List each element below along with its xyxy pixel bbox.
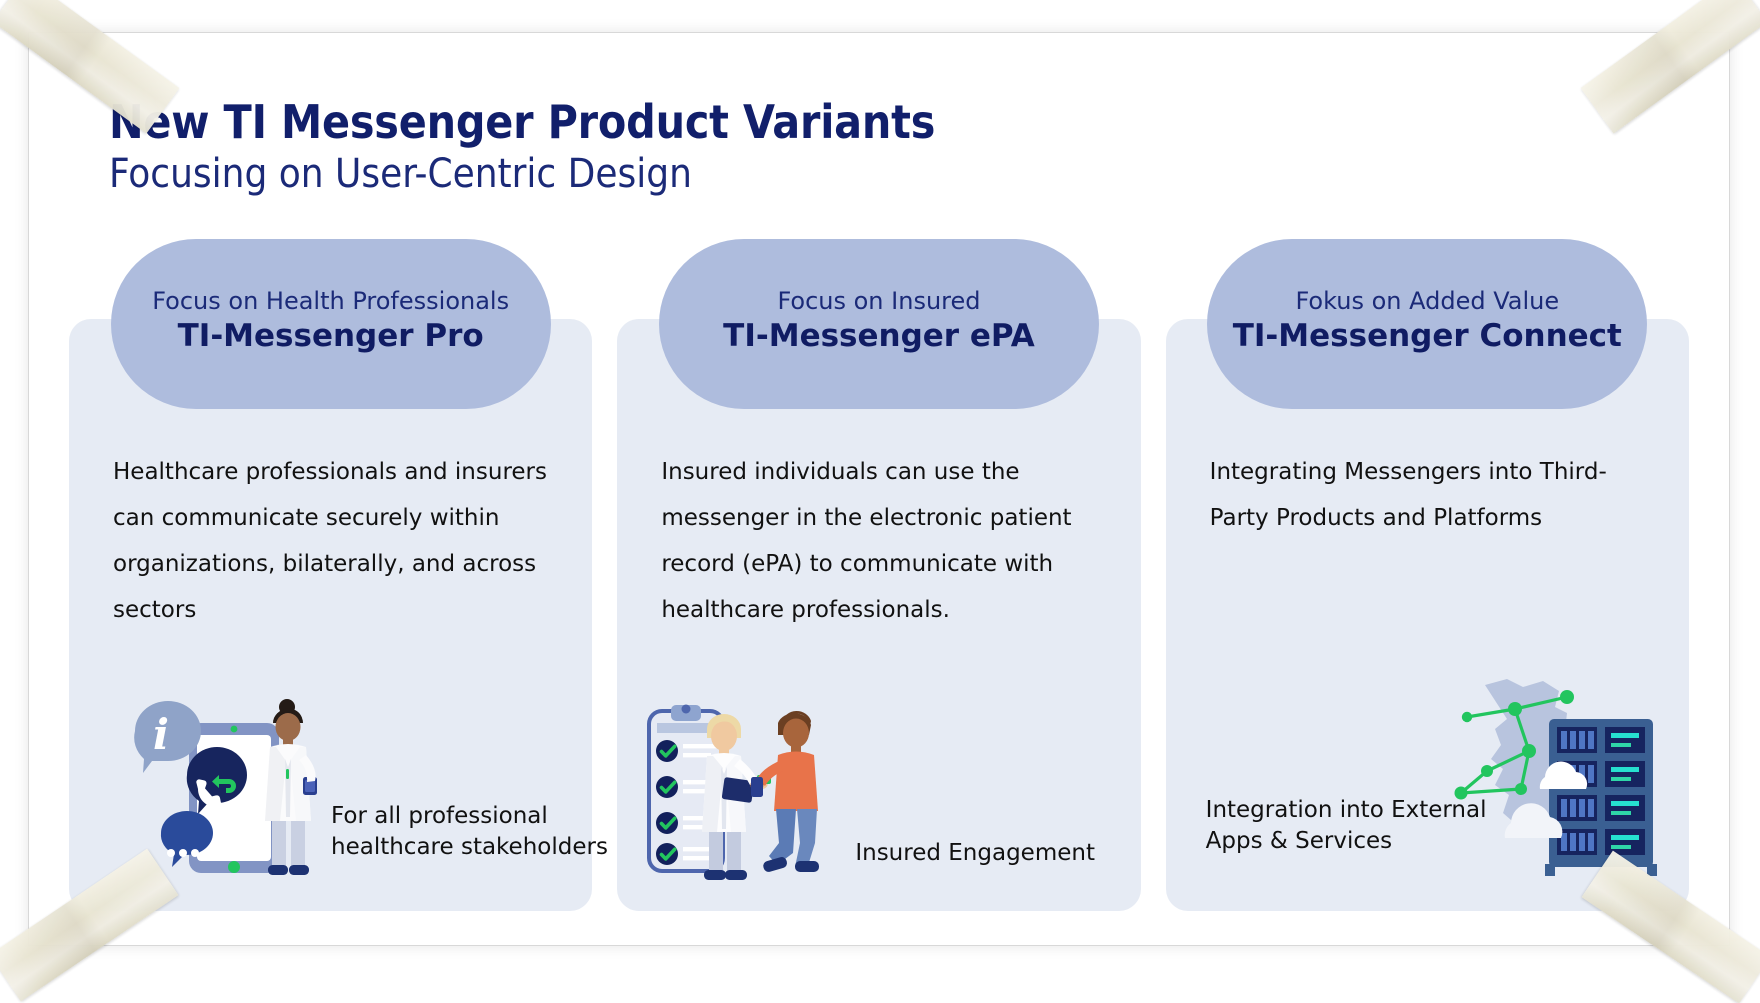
card-ti-messenger-pro[interactable]: Focus on Health Professionals TI-Messeng… [69, 319, 592, 911]
pill-eyebrow: Focus on Health Professionals [152, 286, 509, 316]
slide-paper: New TI Messenger Product Variants Focusi… [28, 32, 1730, 946]
card-caption: Integration into External Apps & Service… [1206, 795, 1546, 857]
pill-title: TI-Messenger Connect [1233, 316, 1622, 356]
card-caption: Insured Engagement [855, 838, 1155, 869]
card-body-text: Insured individuals can use the messenge… [661, 449, 1110, 633]
pill-title: TI-Messenger ePA [723, 316, 1035, 356]
pill-title: TI-Messenger Pro [178, 316, 484, 356]
title-main: New TI Messenger Product Variants [109, 95, 1309, 149]
card-header-pill: Fokus on Added Value TI-Messenger Connec… [1207, 239, 1647, 409]
svg-text:i: i [153, 710, 169, 759]
pill-eyebrow: Focus on Insured [777, 286, 980, 316]
product-variant-cards: Focus on Health Professionals TI-Messeng… [69, 319, 1689, 919]
card-caption: For all professional healthcare stakehol… [331, 801, 651, 863]
title-subtitle: Focusing on User-Centric Design [109, 149, 1309, 199]
card-body-text: Healthcare professionals and insurers ca… [113, 449, 562, 633]
checklist-doctor-patient-icon [645, 699, 855, 889]
page-title: New TI Messenger Product Variants Focusi… [109, 95, 1309, 199]
card-ti-messenger-connect[interactable]: Fokus on Added Value TI-Messenger Connec… [1166, 319, 1689, 911]
card-header-pill: Focus on Insured TI-Messenger ePA [659, 239, 1099, 409]
pill-eyebrow: Fokus on Added Value [1295, 286, 1559, 316]
card-ti-messenger-epa[interactable]: Focus on Insured TI-Messenger ePA Insure… [617, 319, 1140, 911]
card-body-text: Integrating Messengers into Third-Party … [1210, 449, 1659, 541]
card-header-pill: Focus on Health Professionals TI-Messeng… [111, 239, 551, 409]
